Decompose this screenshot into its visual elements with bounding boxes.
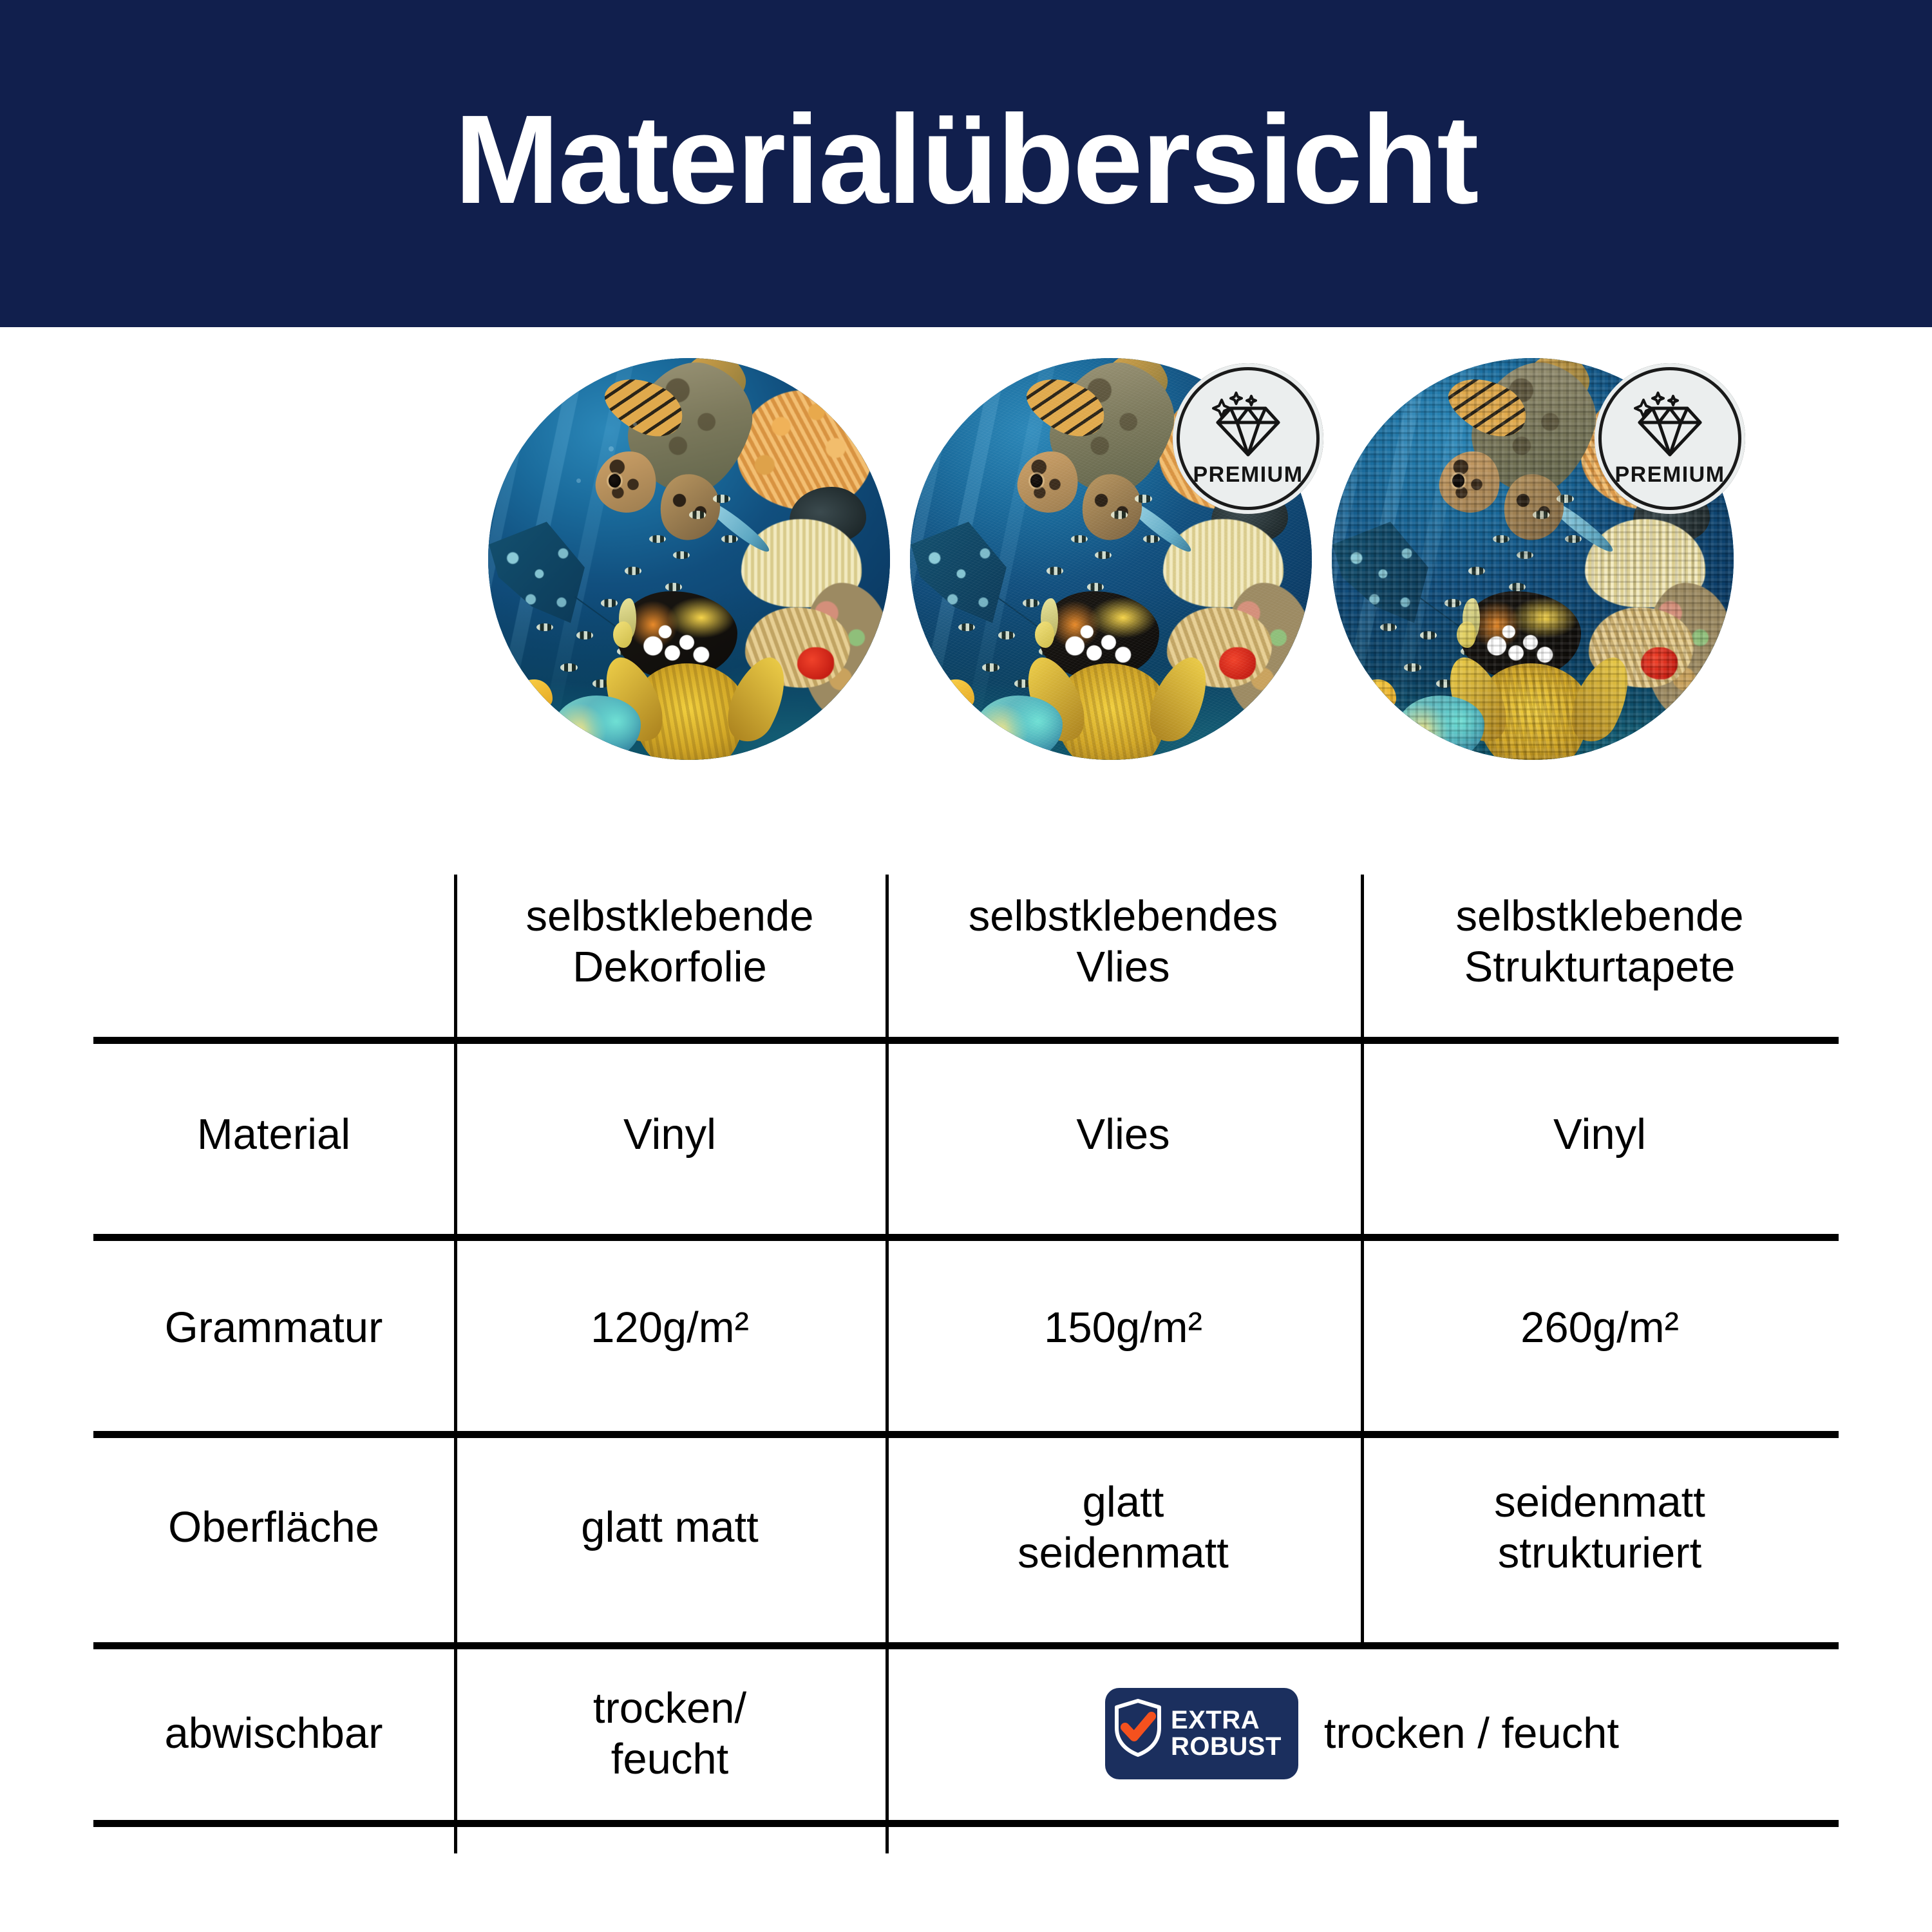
cell-oberflaeche-vlies: glatt seidenmatt <box>885 1425 1361 1631</box>
table-row: Grammatur 120g/m² 150g/m² 260g/m² <box>93 1231 1839 1425</box>
row-label-abwischbar: abwischbar <box>93 1631 454 1837</box>
table-header-row: selbstklebende Dekorfolie selbstklebende… <box>93 845 1839 1038</box>
cell-abwischbar-dekorfolie: trocken/ feucht <box>454 1631 885 1837</box>
row-label-grammatur: Grammatur <box>93 1231 454 1425</box>
premium-badge-vlies: PREMIUM <box>1173 363 1323 514</box>
page-title: Materialübersicht <box>455 97 1478 223</box>
preview-row: PREMIUM <box>0 358 1932 770</box>
table-header-vlies: selbstklebendes Vlies <box>885 845 1361 1038</box>
preview-image-dekorfolie <box>488 358 890 760</box>
cell-oberflaeche-strukturtapete: seidenmatt strukturiert <box>1361 1425 1839 1631</box>
preview-strukturtapete[interactable]: PREMIUM <box>1332 358 1734 760</box>
table-row: Material Vinyl Vlies Vinyl <box>93 1038 1839 1231</box>
premium-badge-label: PREMIUM <box>1193 464 1303 486</box>
extra-robust-line2: ROBUST <box>1171 1734 1282 1760</box>
table-row: abwischbar trocken/ feucht EXTRA ROB <box>93 1631 1839 1837</box>
premium-badge-label: PREMIUM <box>1615 464 1725 486</box>
yellow-tang-icon <box>512 679 552 712</box>
table-header-dekorfolie: selbstklebende Dekorfolie <box>454 845 885 1038</box>
cell-abwischbar-text: trocken / feucht <box>1324 1708 1619 1759</box>
cell-grammatur-strukturtapete: 260g/m² <box>1361 1231 1839 1425</box>
cell-material-dekorfolie: Vinyl <box>454 1038 885 1231</box>
material-comparison-table: selbstklebende Dekorfolie selbstklebende… <box>93 845 1839 1837</box>
premium-badge-strukturtapete: PREMIUM <box>1595 363 1745 514</box>
cell-grammatur-dekorfolie: 120g/m² <box>454 1231 885 1425</box>
table-header-empty <box>93 845 454 1038</box>
cell-grammatur-vlies: 150g/m² <box>885 1231 1361 1425</box>
preview-vlies[interactable]: PREMIUM <box>910 358 1312 760</box>
cell-oberflaeche-dekorfolie: glatt matt <box>454 1425 885 1631</box>
header-banner: Materialübersicht <box>0 0 1932 327</box>
diamond-icon <box>1632 392 1708 461</box>
table-header-strukturtapete: selbstklebende Strukturtapete <box>1361 845 1839 1038</box>
cell-abwischbar-vlies-strukturtapete: EXTRA ROBUST trocken / feucht <box>885 1631 1839 1837</box>
row-label-oberflaeche: Oberfläche <box>93 1425 454 1631</box>
parrotfish-icon <box>553 696 641 760</box>
shield-check-icon <box>1113 1698 1163 1768</box>
preview-dekorfolie[interactable] <box>488 358 890 760</box>
row-label-material: Material <box>93 1038 454 1231</box>
extra-robust-badge: EXTRA ROBUST <box>1105 1688 1298 1779</box>
cell-material-strukturtapete: Vinyl <box>1361 1038 1839 1231</box>
extra-robust-line1: EXTRA <box>1171 1707 1282 1734</box>
table-row: Oberfläche glatt matt glatt seidenmatt s… <box>93 1425 1839 1631</box>
cell-material-vlies: Vlies <box>885 1038 1361 1231</box>
diamond-icon <box>1210 392 1286 461</box>
